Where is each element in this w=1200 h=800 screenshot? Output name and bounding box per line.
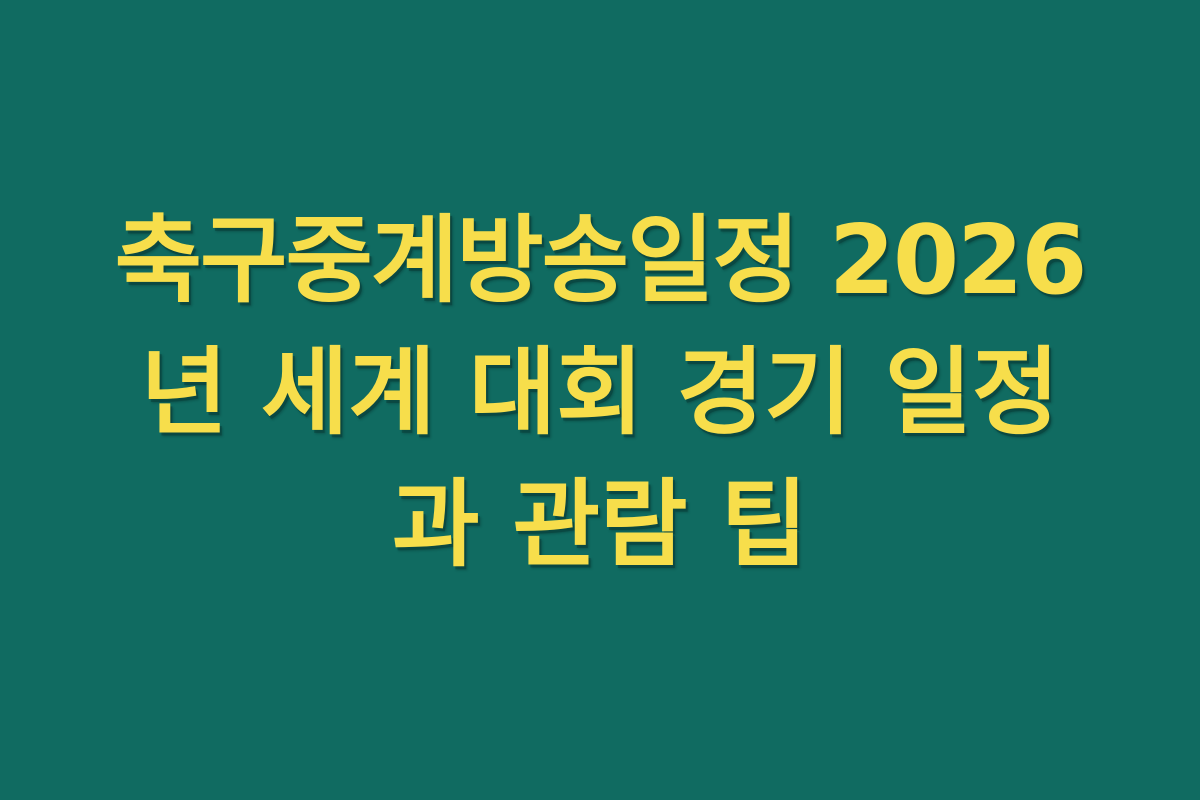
headline-block: 축구중계방송일정 2026 년 세계 대회 경기 일정 과 관람 팁 xyxy=(60,195,1140,591)
thumbnail-card: 축구중계방송일정 2026 년 세계 대회 경기 일정 과 관람 팁 xyxy=(0,0,1200,800)
headline-line-1: 축구중계방송일정 2026 xyxy=(60,195,1140,327)
headline-line-2: 년 세계 대회 경기 일정 xyxy=(60,327,1140,459)
headline-line-3: 과 관람 팁 xyxy=(60,459,1140,591)
